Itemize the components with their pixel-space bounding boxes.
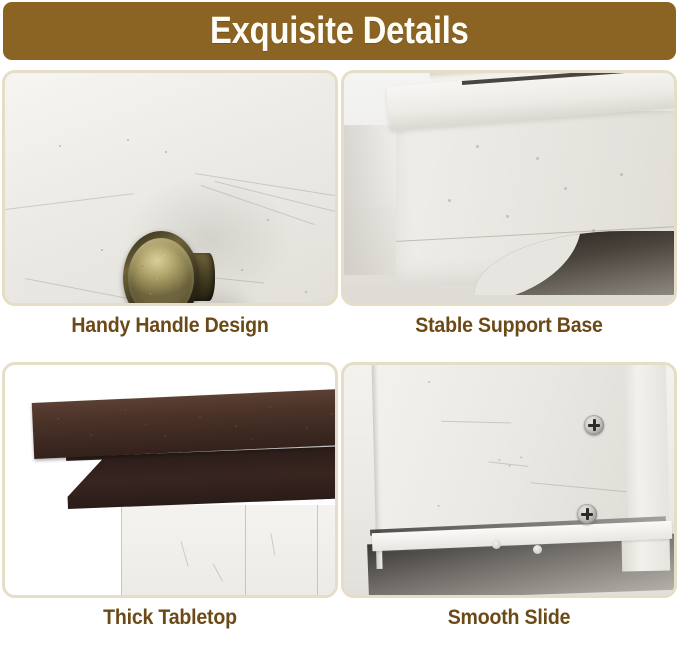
caption-thick-tabletop: Thick Tabletop xyxy=(14,606,326,630)
drawer-slide-scene xyxy=(344,365,674,595)
photo-handy-handle-design xyxy=(2,70,338,306)
feature-cell-smooth-slide: Smooth Slide xyxy=(341,362,677,630)
brass-knob-icon xyxy=(123,231,207,306)
arched-cutout-shadow xyxy=(474,231,674,295)
photo-stable-support-base xyxy=(341,70,677,306)
page-title: Exquisite Details xyxy=(210,12,469,50)
feature-cell-stable-support-base: Stable Support Base xyxy=(341,70,677,338)
caption-stable-support-base: Stable Support Base xyxy=(353,314,665,338)
photo-smooth-slide xyxy=(341,362,677,598)
screw-icon-bottom xyxy=(577,504,597,524)
feature-cell-handy-handle-design: Handy Handle Design xyxy=(2,70,338,338)
white-wood-surface xyxy=(5,73,335,303)
caption-smooth-slide: Smooth Slide xyxy=(353,606,665,630)
product-detail-infographic: Exquisite Details xyxy=(0,0,679,646)
header-banner: Exquisite Details xyxy=(3,2,676,60)
feature-cell-thick-tabletop: Thick Tabletop xyxy=(2,362,338,630)
caption-handy-handle-design: Handy Handle Design xyxy=(14,314,326,338)
cabinet-planks xyxy=(121,505,338,598)
photo-thick-tabletop xyxy=(2,362,338,598)
tabletop-scene xyxy=(5,365,335,595)
screw-icon-top xyxy=(584,415,604,435)
support-base-scene xyxy=(344,73,674,303)
feature-grid: Handy Handle Design xyxy=(0,70,679,646)
